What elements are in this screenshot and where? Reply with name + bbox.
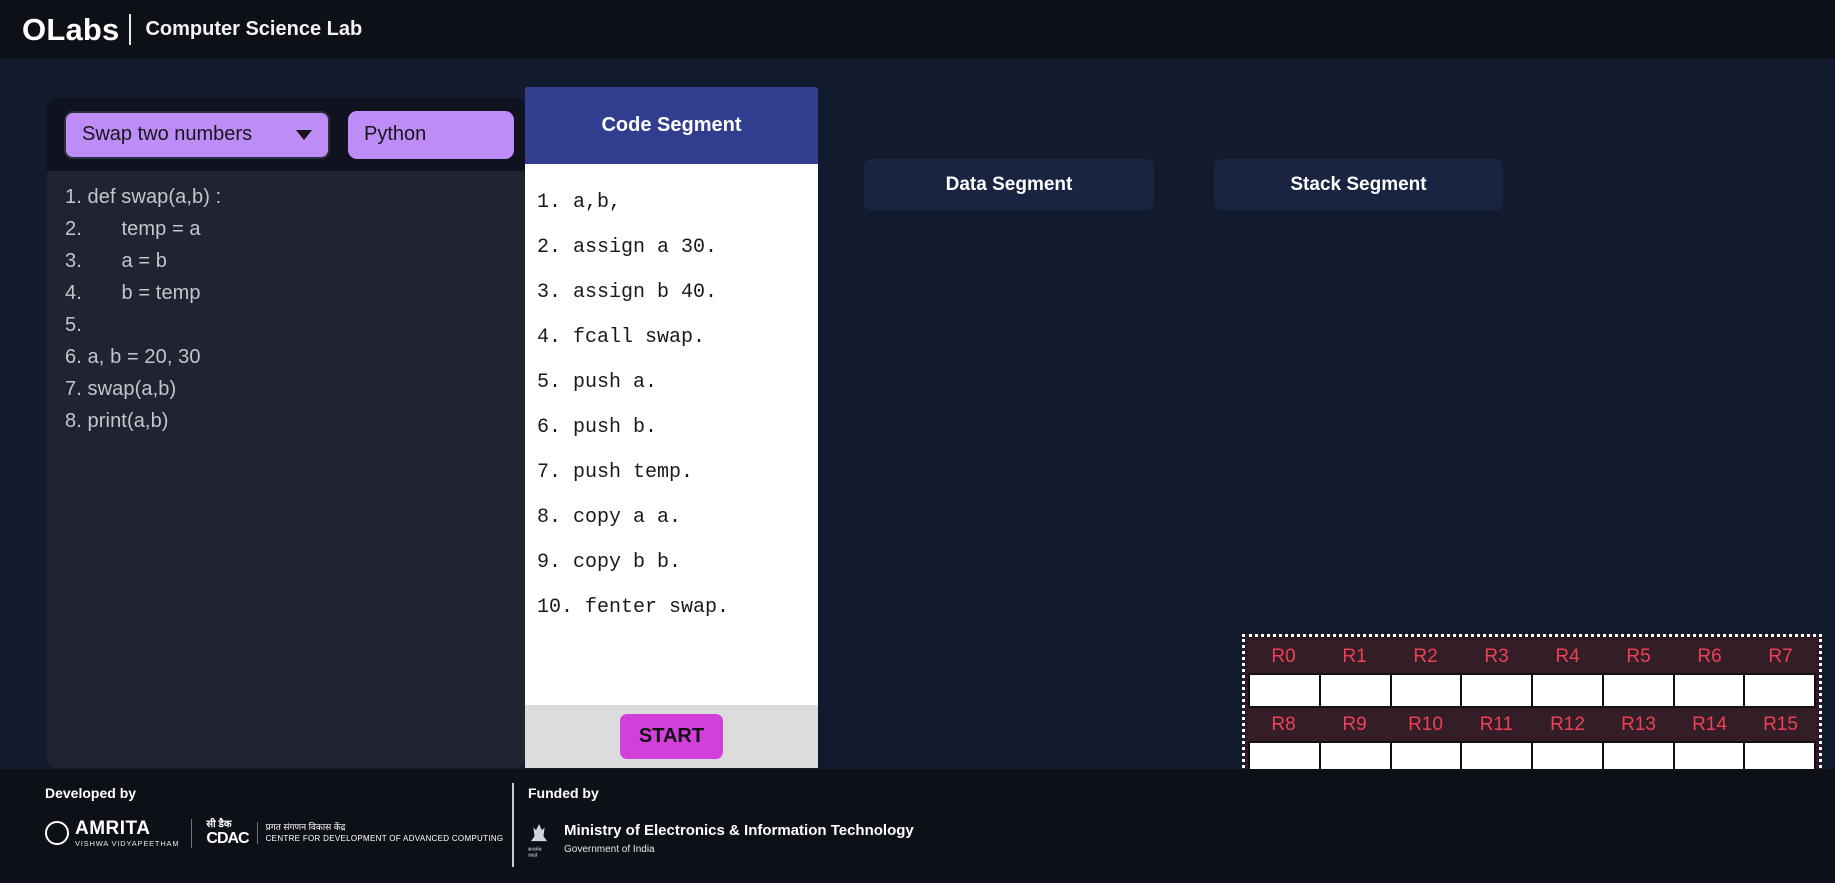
register-value-cell[interactable] [1604,673,1675,708]
main-stage: Swap two numbers Python 1. def swap(a,b)… [0,58,1835,769]
code-segment-footer: START [525,705,818,768]
page-title: Computer Science Lab [145,19,362,39]
register-label-row-2: R8 R9 R10 R11 R12 R13 R14 R15 [1248,708,1816,741]
cdac-wordmark: CDAC [206,830,248,848]
register-value-cell[interactable] [1248,673,1321,708]
register-label: R10 [1390,708,1461,741]
register-label: R1 [1319,640,1390,673]
register-value-cell[interactable] [1745,673,1816,708]
india-emblem-icon: सत्यमेव जयते [528,819,550,859]
source-line: 2. temp = a [65,213,525,245]
footer-divider [512,783,514,867]
cdac-hindi-name: प्रगत संगणन विकास केंद्र [266,822,504,834]
register-value-row-1 [1248,673,1816,708]
app-root: OLabs Computer Science Lab Swap two numb… [0,0,1835,883]
cdac-english-name: CENTRE FOR DEVELOPMENT OF ADVANCED COMPU… [266,834,504,844]
register-label: R2 [1390,640,1461,673]
register-label: R9 [1319,708,1390,741]
start-button[interactable]: START [620,714,723,759]
amrita-emblem-icon [45,821,69,845]
top-bar: OLabs Computer Science Lab [0,0,1835,58]
developed-by-label: Developed by [45,785,503,801]
source-line: 5. [65,309,525,341]
data-segment-button[interactable]: Data Segment [864,159,1154,210]
code-line: 1. a,b, [537,180,818,225]
source-code-card: Swap two numbers Python 1. def swap(a,b)… [47,98,525,768]
register-value-cell[interactable] [1392,673,1463,708]
footer-funded-by: Funded by सत्यमेव जयते Ministry of Elect… [528,785,914,859]
register-label: R8 [1248,708,1319,741]
footer-developed-by: Developed by AMRITA VISHWA VIDYAPEETHAM … [45,785,503,848]
register-value-cell[interactable] [1321,673,1392,708]
code-segment-panel: Code Segment 1. a,b, 2. assign a 30. 3. … [525,87,818,768]
code-line: 2. assign a 30. [537,225,818,270]
code-line: 9. copy b b. [537,540,818,585]
code-line: 7. push temp. [537,450,818,495]
register-label: R15 [1745,708,1816,741]
stack-segment-button[interactable]: Stack Segment [1214,159,1503,210]
footer: Developed by AMRITA VISHWA VIDYAPEETHAM … [0,769,1835,883]
register-label: R12 [1532,708,1603,741]
code-line: 6. push b. [537,405,818,450]
source-line: 1. def swap(a,b) : [65,181,525,213]
register-label: R6 [1674,640,1745,673]
register-label: R3 [1461,640,1532,673]
amrita-subtitle: VISHWA VIDYAPEETHAM [75,840,179,848]
register-label: R4 [1532,640,1603,673]
register-label: R13 [1603,708,1674,741]
code-line: 4. fcall swap. [537,315,818,360]
source-line: 3. a = b [65,245,525,277]
register-label: R0 [1248,640,1319,673]
register-label-row-1: R0 R1 R2 R3 R4 R5 R6 R7 [1248,640,1816,673]
source-line: 7. swap(a,b) [65,373,525,405]
developer-logos: AMRITA VISHWA VIDYAPEETHAM सी डैक CDAC प… [45,819,503,848]
register-value-cell[interactable] [1462,673,1533,708]
ministry-name: Ministry of Electronics & Information Te… [564,822,914,841]
register-label: R14 [1674,708,1745,741]
code-line: 10. fenter swap. [537,585,818,630]
register-value-cell[interactable] [1675,673,1746,708]
source-line: 6. a, b = 20, 30 [65,341,525,373]
code-segment-body: 1. a,b, 2. assign a 30. 3. assign b 40. … [525,164,818,705]
register-label: R5 [1603,640,1674,673]
register-value-cell[interactable] [1533,673,1604,708]
source-line: 4. b = temp [65,277,525,309]
source-line: 8. print(a,b) [65,405,525,437]
source-toolbar: Swap two numbers Python [47,98,525,171]
register-label: R11 [1461,708,1532,741]
code-line: 8. copy a a. [537,495,818,540]
ministry-logo: सत्यमेव जयते Ministry of Electronics & I… [528,819,914,859]
amrita-name: AMRITA [75,819,179,838]
code-line: 3. assign b 40. [537,270,818,315]
program-select[interactable]: Swap two numbers [64,111,330,159]
amrita-logo: AMRITA VISHWA VIDYAPEETHAM [45,819,192,848]
code-line: 5. push a. [537,360,818,405]
funded-by-label: Funded by [528,785,914,801]
register-label: R7 [1745,640,1816,673]
program-select-value: Swap two numbers [82,123,252,146]
chevron-down-icon [296,130,312,140]
cdac-logo: सी डैक CDAC प्रगत संगणन विकास केंद्र CEN… [206,819,503,848]
code-segment-title: Code Segment [525,87,818,164]
language-button[interactable]: Python [348,111,514,159]
government-label: Government of India [564,844,914,857]
cdac-hindi-short: सी डैक [206,819,248,830]
olabs-logo: OLabs [22,14,131,45]
source-code-body: 1. def swap(a,b) : 2. temp = a 3. a = b … [47,171,525,768]
